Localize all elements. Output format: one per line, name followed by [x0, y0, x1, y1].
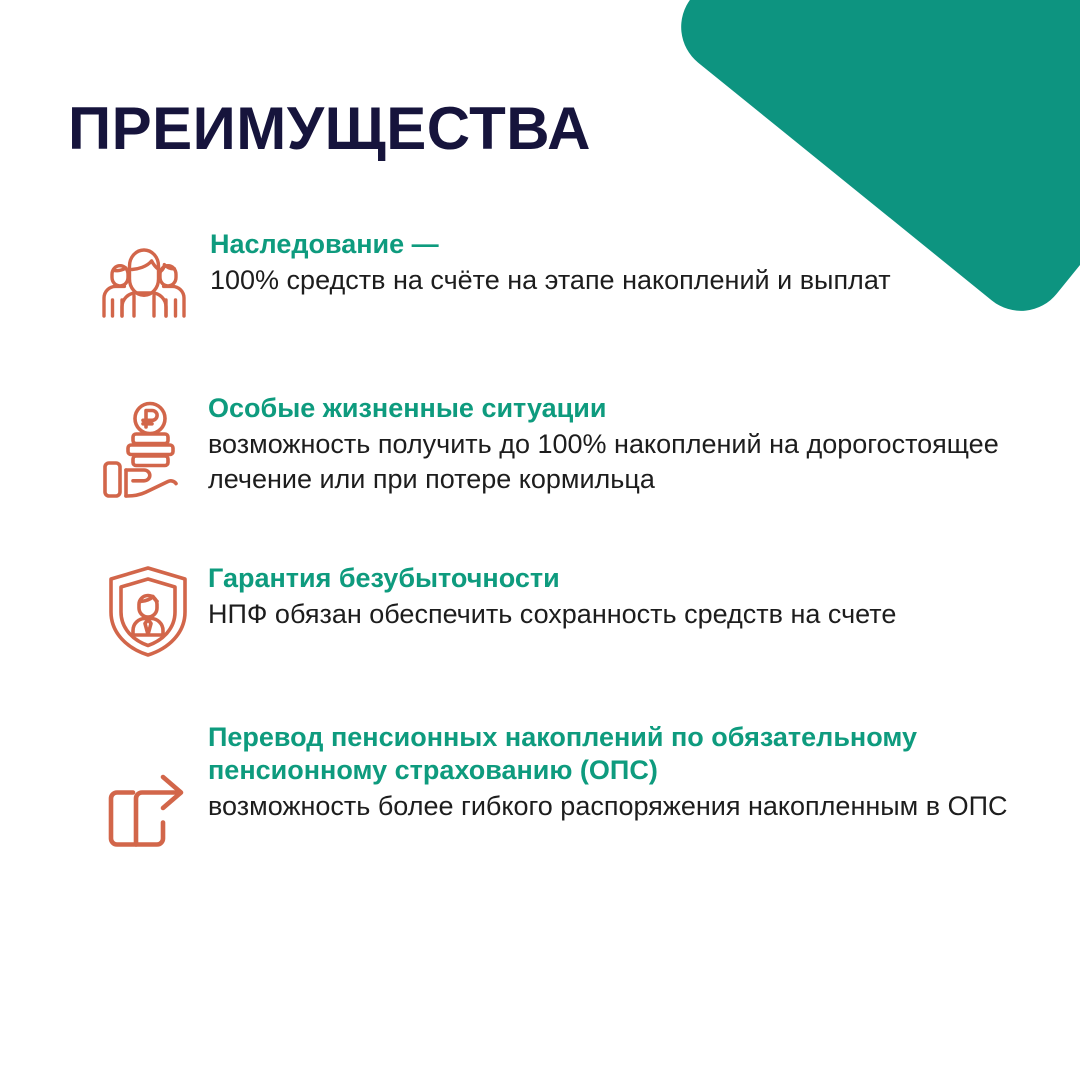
hand-with-ruble-coins-icon [0, 392, 208, 500]
benefit-text-block: Перевод пенсионных накоплений по обязате… [208, 721, 1080, 824]
page-title: ПРЕИМУЩЕСТВА [68, 96, 591, 162]
benefit-body: 100% средств на счёте на этапе накоплени… [210, 263, 1020, 298]
benefit-item: Особые жизненные ситуации возможность по… [0, 392, 1080, 500]
shield-with-person-icon [0, 562, 208, 659]
benefit-text-block: Наследование — 100% средств на счёте на … [210, 228, 1080, 298]
benefit-body: НПФ обязан обеспечить сохранность средст… [208, 597, 1020, 632]
benefit-item: Перевод пенсионных накоплений по обязате… [0, 721, 1080, 851]
benefit-body: возможность получить до 100% накоплений … [208, 427, 1020, 497]
export-arrow-icon [0, 721, 208, 851]
benefits-list: Наследование — 100% средств на счёте на … [0, 228, 1080, 851]
benefit-item: Гарантия безубыточности НПФ обязан обесп… [0, 562, 1080, 659]
family-group-icon [0, 228, 210, 320]
slide-canvas: ПРЕИМУЩЕСТВА [0, 0, 1080, 1080]
benefit-item: Наследование — 100% средств на счёте на … [0, 228, 1080, 320]
benefit-text-block: Гарантия безубыточности НПФ обязан обесп… [208, 562, 1080, 632]
benefit-heading: Особые жизненные ситуации [208, 392, 1020, 425]
benefit-heading: Наследование — [210, 228, 1020, 261]
benefit-heading: Перевод пенсионных накоплений по обязате… [208, 721, 1020, 787]
benefit-text-block: Особые жизненные ситуации возможность по… [208, 392, 1080, 497]
benefit-body: возможность более гибкого распоряжения н… [208, 789, 1020, 824]
benefit-heading: Гарантия безубыточности [208, 562, 1020, 595]
